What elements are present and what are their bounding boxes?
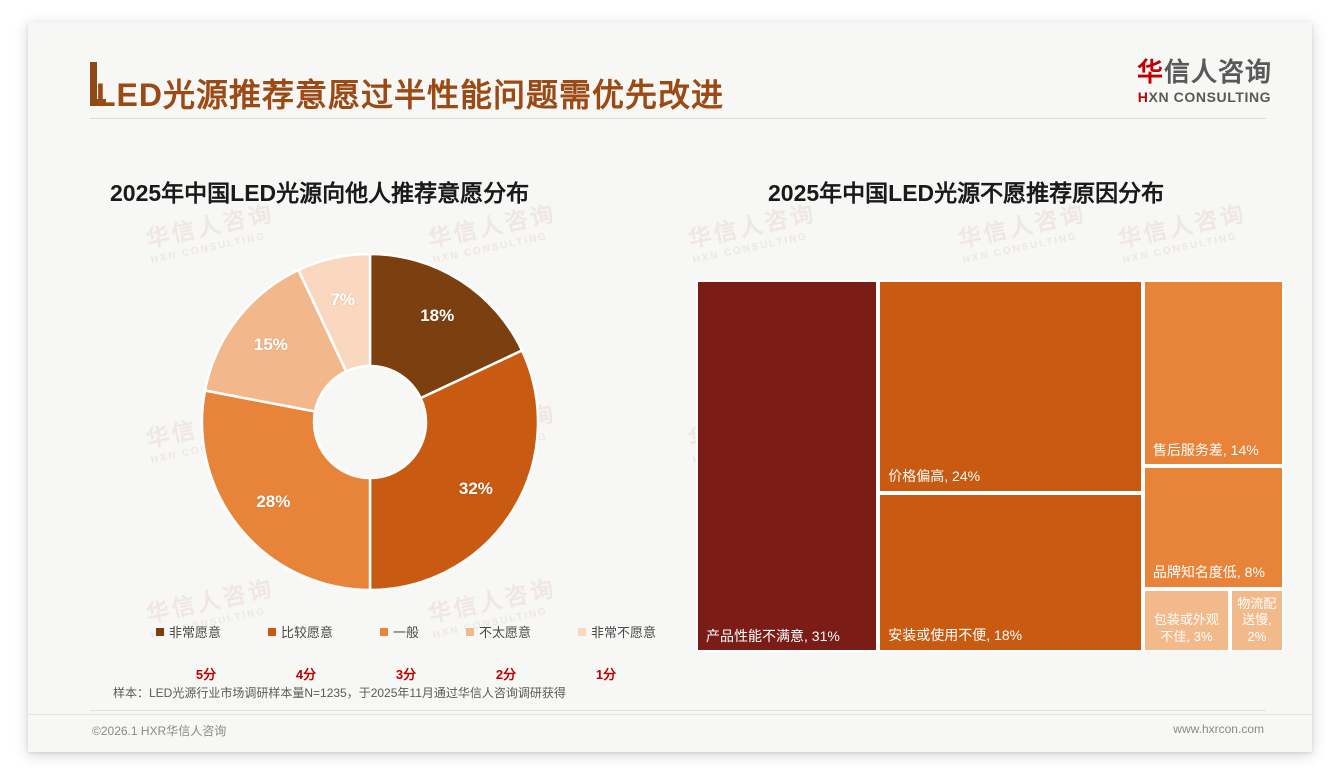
footer-divider bbox=[28, 714, 1312, 715]
score-label-5: 1分 bbox=[556, 664, 656, 683]
treemap-cell-4[interactable]: 售后服务差, 14% bbox=[1143, 280, 1284, 466]
treemap-cell-2[interactable]: 价格偏高, 24% bbox=[878, 280, 1143, 493]
donut-slice-label-4: 15% bbox=[254, 335, 288, 355]
treemap-cell-1[interactable]: 产品性能不满意, 31% bbox=[696, 280, 878, 652]
logo-en-rest: XN CONSULTING bbox=[1149, 89, 1272, 105]
legend-swatch-icon bbox=[466, 628, 474, 636]
treemap-cell-label: 安装或使用不便, 18% bbox=[888, 627, 1135, 645]
treemap-cell-3[interactable]: 安装或使用不便, 18% bbox=[878, 493, 1143, 652]
legend-item-3[interactable]: 一般 bbox=[380, 622, 419, 641]
left-chart-title: 2025年中国LED光源向他人推荐意愿分布 bbox=[110, 174, 529, 208]
footer-website[interactable]: www.hxrcon.com bbox=[1173, 722, 1264, 736]
company-logo: 华信人咨询 HXN CONSULTING bbox=[1137, 58, 1272, 105]
reasons-treemap-chart: 产品性能不满意, 31%价格偏高, 24%安装或使用不便, 18%售后服务差, … bbox=[696, 280, 1284, 652]
legend-swatch-icon bbox=[268, 628, 276, 636]
score-label-3: 3分 bbox=[356, 664, 456, 683]
page-title: LED光源推荐意愿过半性能问题需优先改进 bbox=[96, 70, 724, 116]
slide-header: LED光源推荐意愿过半性能问题需优先改进 华信人咨询 HXN CONSULTIN… bbox=[28, 22, 1312, 128]
donut-legend: 非常愿意比较愿意一般不太愿意非常不愿意 bbox=[156, 622, 656, 641]
sample-footnote: 样本：LED光源行业市场调研样本量N=1235，于2025年11月通过华信人咨询… bbox=[113, 684, 566, 701]
score-label-2: 4分 bbox=[256, 664, 356, 683]
donut-slice-label-2: 32% bbox=[459, 479, 493, 499]
score-label-4: 2分 bbox=[456, 664, 556, 683]
treemap-cell-label: 包装或外观不佳, 3% bbox=[1148, 612, 1225, 645]
legend-swatch-icon bbox=[380, 628, 388, 636]
logo-english-text: HXN CONSULTING bbox=[1137, 89, 1272, 105]
logo-cn-red: 华 bbox=[1137, 57, 1164, 87]
slide-canvas: LED光源推荐意愿过半性能问题需优先改进 华信人咨询 HXN CONSULTIN… bbox=[28, 22, 1312, 752]
legend-item-5[interactable]: 非常不愿意 bbox=[578, 622, 656, 641]
legend-item-2[interactable]: 比较愿意 bbox=[268, 622, 333, 641]
legend-swatch-icon bbox=[156, 628, 164, 636]
donut-slice-label-1: 18% bbox=[420, 306, 454, 326]
logo-cn-rest: 信人咨询 bbox=[1164, 57, 1272, 87]
header-divider bbox=[90, 118, 1266, 119]
logo-chinese-text: 华信人咨询 bbox=[1137, 58, 1272, 87]
right-chart-title: 2025年中国LED光源不愿推荐原因分布 bbox=[768, 174, 1164, 208]
legend-item-4[interactable]: 不太愿意 bbox=[466, 622, 531, 641]
logo-en-red: H bbox=[1138, 89, 1149, 105]
score-scale-row: 5分4分3分2分1分 bbox=[156, 664, 656, 683]
donut-slice-3[interactable] bbox=[202, 391, 370, 590]
donut-slice-label-5: 7% bbox=[330, 290, 355, 310]
legend-item-label: 比较愿意 bbox=[281, 622, 333, 641]
legend-item-label: 一般 bbox=[393, 622, 419, 641]
legend-item-label: 不太愿意 bbox=[479, 622, 531, 641]
footer-copyright: ©2026.1 HXR华信人咨询 bbox=[92, 722, 226, 739]
donut-slice-2[interactable] bbox=[370, 350, 538, 590]
footnote-divider bbox=[90, 710, 1266, 711]
treemap-cell-label: 品牌知名度低, 8% bbox=[1153, 564, 1276, 582]
score-label-1: 5分 bbox=[156, 664, 256, 683]
legend-item-1[interactable]: 非常愿意 bbox=[156, 622, 221, 641]
treemap-cell-7[interactable]: 物流配送慢, 2% bbox=[1230, 589, 1284, 652]
recommendation-donut-chart: 18%32%28%15%7% bbox=[200, 252, 540, 592]
treemap-cell-label: 售后服务差, 14% bbox=[1153, 442, 1276, 460]
donut-svg bbox=[200, 252, 540, 592]
legend-swatch-icon bbox=[578, 628, 586, 636]
legend-item-label: 非常不愿意 bbox=[591, 622, 656, 641]
legend-item-label: 非常愿意 bbox=[169, 622, 221, 641]
treemap-cell-label: 物流配送慢, 2% bbox=[1235, 596, 1279, 645]
donut-slice-label-3: 28% bbox=[256, 492, 290, 512]
treemap-cell-label: 产品性能不满意, 31% bbox=[706, 628, 870, 646]
treemap-cell-6[interactable]: 包装或外观不佳, 3% bbox=[1143, 589, 1230, 652]
treemap-cell-label: 价格偏高, 24% bbox=[888, 468, 1135, 486]
treemap-cell-5[interactable]: 品牌知名度低, 8% bbox=[1143, 466, 1284, 589]
